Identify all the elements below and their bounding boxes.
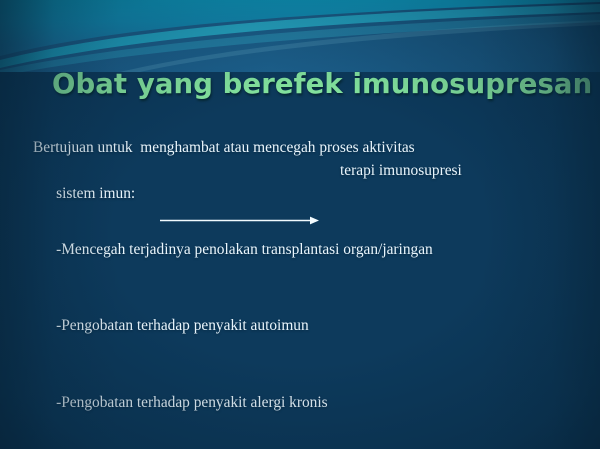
wave-curves-icon [0, 0, 600, 72]
list-item: -Pengobatan terhadap penyakit alergi kro… [33, 364, 573, 441]
bullet-text: Pengobatan terhadap penyakit autoimun [61, 317, 308, 334]
list-item: -Mencegah terjadinya penolakan transplan… [33, 211, 573, 288]
intro-line-1: Bertujuan untuk menghambat atau mencegah… [33, 136, 573, 159]
intro-line-2-prefix: sistem imun: [56, 185, 135, 202]
bullet-text: Pengobatan terhadap penyakit alergi kron… [61, 394, 327, 411]
list-item: -Pengobatan terhadap penyakit autoimun [33, 288, 573, 365]
intro-line-2: sistem imun: terapi imunosupresi [33, 159, 573, 182]
header-wave-decoration [0, 0, 600, 72]
right-arrow-icon [160, 170, 320, 179]
slide-title: Obat yang berefek imunosupresan [52, 68, 562, 100]
intro-result-text: terapi imunosupresi [340, 159, 462, 182]
bullet-text: Mencegah terjadinya penolakan transplant… [61, 241, 433, 258]
intro-paragraph: Bertujuan untuk menghambat atau mencegah… [33, 136, 573, 182]
presentation-slide: Obat yang berefek imunosupresan Bertujua… [0, 0, 600, 449]
bullet-list: -Mencegah terjadinya penolakan transplan… [33, 211, 573, 441]
